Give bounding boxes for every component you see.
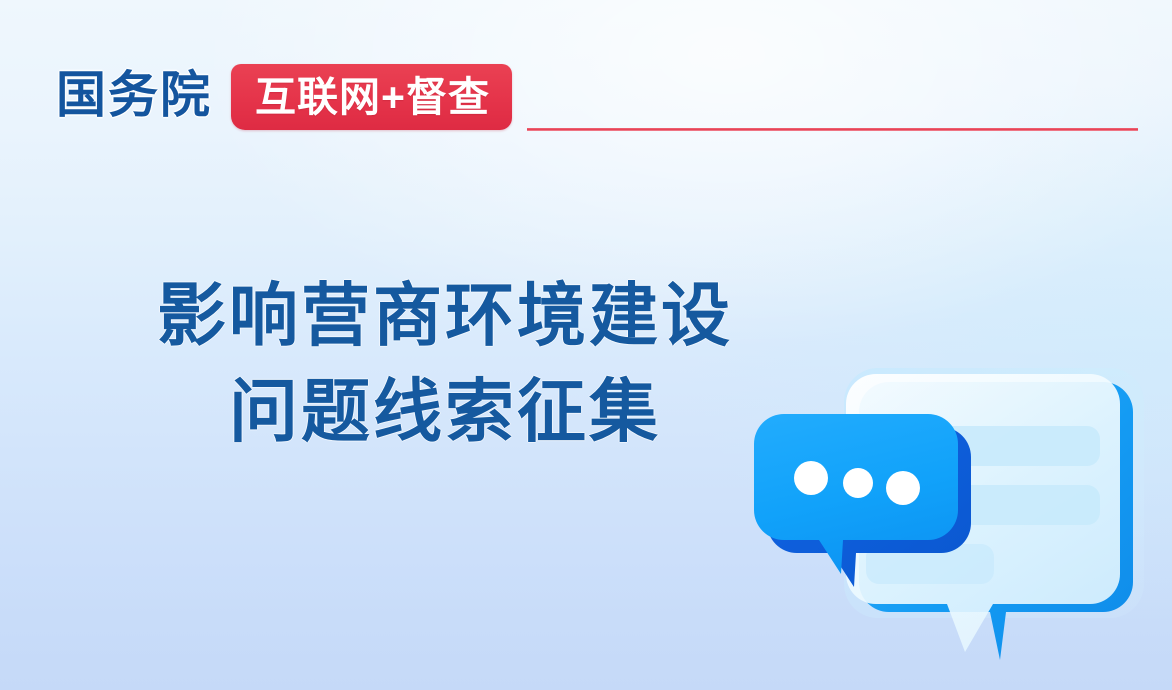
header-divider-rule	[527, 128, 1138, 131]
page-title-line-1: 影响营商环境建设	[120, 268, 770, 364]
banner-poster: 国务院 互联网+督查 影响营商环境建设 问题线索征集	[0, 0, 1172, 690]
page-title-line-2: 问题线索征集	[120, 364, 770, 460]
chat-bubbles-illustration	[748, 352, 1148, 682]
page-title: 影响营商环境建设 问题线索征集	[120, 268, 770, 460]
typing-dot-1	[794, 461, 828, 495]
typing-dot-2	[843, 468, 873, 498]
typing-dot-3	[886, 471, 920, 505]
badge-label: 互联网+督查	[255, 75, 490, 119]
internet-plus-supervision-badge[interactable]: 互联网+督查	[231, 64, 512, 130]
banner-header: 国务院 互联网+督查	[0, 0, 1172, 150]
gov-council-logo: 国务院	[56, 68, 212, 122]
